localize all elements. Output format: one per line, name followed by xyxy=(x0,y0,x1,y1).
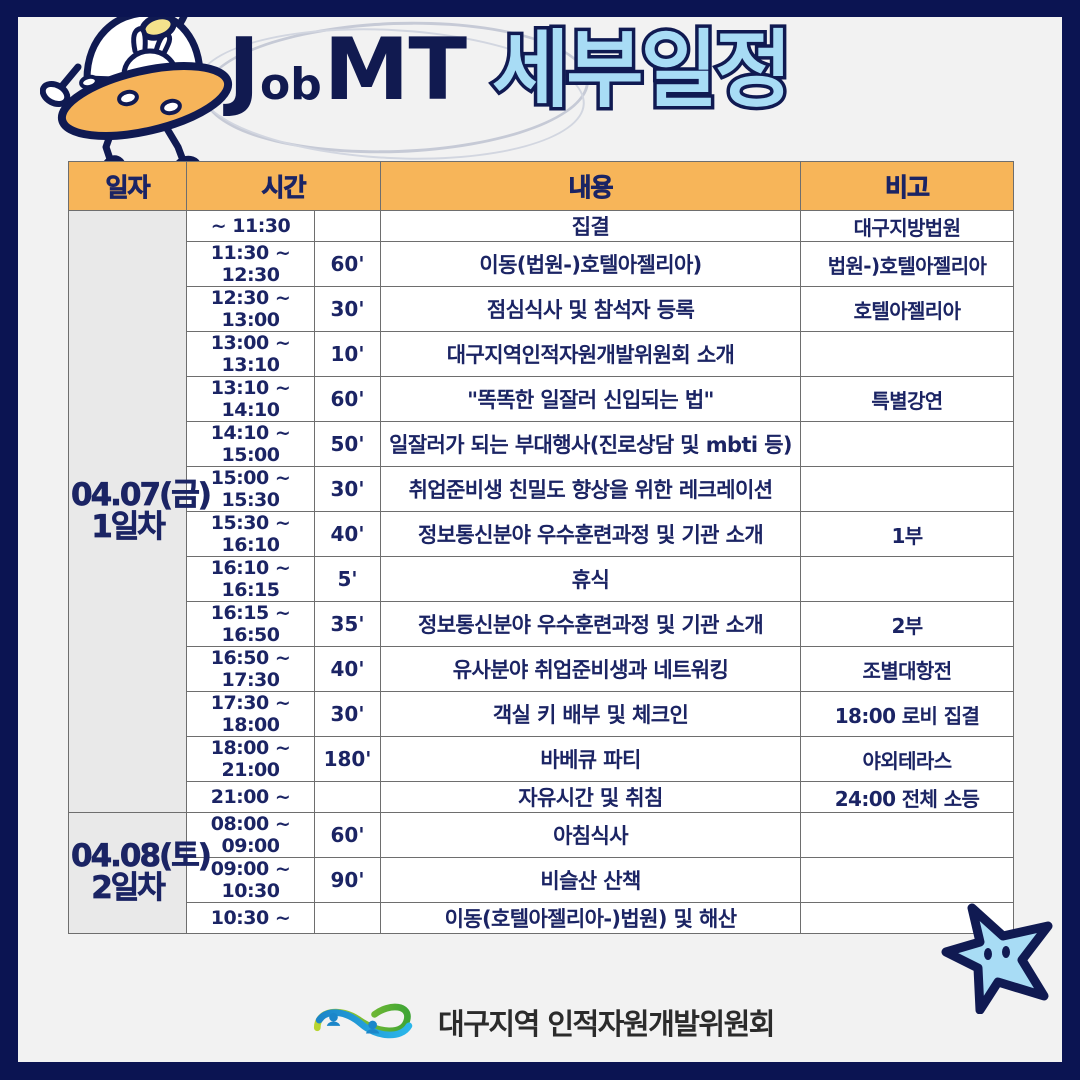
cell-note xyxy=(801,557,1014,602)
cell-note: 18:00 로비 집결 xyxy=(801,692,1014,737)
cell-note: 호텔아젤리아 xyxy=(801,287,1014,332)
cell-content: 정보통신분야 우수훈련과정 및 기관 소개 xyxy=(381,512,801,557)
cell-content: 자유시간 및 취침 xyxy=(381,782,801,813)
cell-content: 정보통신분야 우수훈련과정 및 기관 소개 xyxy=(381,602,801,647)
cell-content: 객실 키 배부 및 체크인 xyxy=(381,692,801,737)
table-row: 04.07(금)1일차~ 11:30집결대구지방법원 xyxy=(69,211,1014,242)
cell-content: 이동(호텔아젤리아-)법원) 및 해산 xyxy=(381,903,801,934)
cell-content: 비슬산 산책 xyxy=(381,858,801,903)
cell-time: 16:10 ~ 16:15 xyxy=(187,557,315,602)
cell-duration: 30' xyxy=(315,467,381,512)
cell-note xyxy=(801,903,1014,934)
cell-duration: 10' xyxy=(315,332,381,377)
table-row: 18:00 ~ 21:00180'바베큐 파티야외테라스 xyxy=(69,737,1014,782)
cell-time: 16:50 ~ 17:30 xyxy=(187,647,315,692)
cell-duration xyxy=(315,903,381,934)
cell-time: 15:30 ~ 16:10 xyxy=(187,512,315,557)
title-letter-j: J xyxy=(228,27,258,113)
cell-duration: 40' xyxy=(315,647,381,692)
cell-duration: 40' xyxy=(315,512,381,557)
cell-content: 취업준비생 친밀도 향상을 위한 레크레이션 xyxy=(381,467,801,512)
cell-note xyxy=(801,332,1014,377)
table-row: 04.08(토)2일차08:00 ~ 09:0060'아침식사 xyxy=(69,813,1014,858)
table-row: 21:00 ~자유시간 및 취침24:00 전체 소등 xyxy=(69,782,1014,813)
cell-duration: 30' xyxy=(315,692,381,737)
cell-content: 휴식 xyxy=(381,557,801,602)
cell-time: 11:30 ~ 12:30 xyxy=(187,242,315,287)
cell-note: 2부 xyxy=(801,602,1014,647)
schedule-day-index: 1일차 xyxy=(71,512,184,544)
cell-content: "똑똑한 일잘러 신입되는 법" xyxy=(381,377,801,422)
poster-header: J ob MT 세부일정 xyxy=(18,17,1062,167)
cell-note xyxy=(801,813,1014,858)
cell-time: 16:15 ~ 16:50 xyxy=(187,602,315,647)
footer-organization-name: 대구지역 인적자원개발위원회 xyxy=(438,1001,774,1043)
column-header-content: 내용 xyxy=(381,162,801,211)
poster-canvas: J ob MT 세부일정 xyxy=(18,17,1062,1062)
title-letters-mt: MT xyxy=(324,27,466,113)
cell-duration: 5' xyxy=(315,557,381,602)
table-row: 11:30 ~ 12:3060'이동(법원-)호텔아젤리아)법원-)호텔아젤리아 xyxy=(69,242,1014,287)
cell-note: 법원-)호텔아젤리아 xyxy=(801,242,1014,287)
table-row: 10:30 ~이동(호텔아젤리아-)법원) 및 해산 xyxy=(69,903,1014,934)
cell-content: 아침식사 xyxy=(381,813,801,858)
cell-duration: 30' xyxy=(315,287,381,332)
footer: 대구지역 인적자원개발위원회 xyxy=(18,998,1062,1046)
schedule-day-label: 04.07(금)1일차 xyxy=(69,211,187,813)
cell-time: 12:30 ~ 13:00 xyxy=(187,287,315,332)
cell-note: 특별강연 xyxy=(801,377,1014,422)
cell-duration: 35' xyxy=(315,602,381,647)
table-header-row: 일자 시간 내용 비고 xyxy=(69,162,1014,211)
cell-content: 점심식사 및 참석자 등록 xyxy=(381,287,801,332)
cell-duration xyxy=(315,782,381,813)
schedule-day-index: 2일차 xyxy=(71,873,184,905)
cell-content: 집결 xyxy=(381,211,801,242)
cell-time: 18:00 ~ 21:00 xyxy=(187,737,315,782)
table-row: 16:10 ~ 16:155'휴식 xyxy=(69,557,1014,602)
cell-duration: 90' xyxy=(315,858,381,903)
cell-note xyxy=(801,467,1014,512)
cell-duration xyxy=(315,211,381,242)
dghrd-infinity-logo-icon xyxy=(306,1001,424,1043)
cell-content: 대구지역인적자원개발위원회 소개 xyxy=(381,332,801,377)
cell-time: 21:00 ~ xyxy=(187,782,315,813)
column-header-date: 일자 xyxy=(69,162,187,211)
column-header-note: 비고 xyxy=(801,162,1014,211)
schedule-day-date: 04.08(토) xyxy=(71,841,184,873)
cell-time: 10:30 ~ xyxy=(187,903,315,934)
cell-note xyxy=(801,858,1014,903)
cell-note: 24:00 전체 소등 xyxy=(801,782,1014,813)
cell-note: 조별대항전 xyxy=(801,647,1014,692)
cell-duration: 180' xyxy=(315,737,381,782)
table-row: 17:30 ~ 18:0030'객실 키 배부 및 체크인18:00 로비 집결 xyxy=(69,692,1014,737)
cell-note xyxy=(801,422,1014,467)
table-row: 13:00 ~ 13:1010'대구지역인적자원개발위원회 소개 xyxy=(69,332,1014,377)
cell-time: 17:30 ~ 18:00 xyxy=(187,692,315,737)
cell-content: 바베큐 파티 xyxy=(381,737,801,782)
title-letters-ob: ob xyxy=(260,63,322,107)
cell-duration: 50' xyxy=(315,422,381,467)
cell-duration: 60' xyxy=(315,377,381,422)
cell-content: 이동(법원-)호텔아젤리아) xyxy=(381,242,801,287)
table-row: 13:10 ~ 14:1060'"똑똑한 일잘러 신입되는 법"특별강연 xyxy=(69,377,1014,422)
table-row: 14:10 ~ 15:0050'일잘러가 되는 부대행사(진로상담 및 mbti… xyxy=(69,422,1014,467)
table-row: 12:30 ~ 13:0030'점심식사 및 참석자 등록호텔아젤리아 xyxy=(69,287,1014,332)
table-row: 16:15 ~ 16:5035'정보통신분야 우수훈련과정 및 기관 소개2부 xyxy=(69,602,1014,647)
schedule-table: 일자 시간 내용 비고 04.07(금)1일차~ 11:30집결대구지방법원11… xyxy=(68,161,1014,934)
table-row: 15:00 ~ 15:3030'취업준비생 친밀도 향상을 위한 레크레이션 xyxy=(69,467,1014,512)
column-header-time: 시간 xyxy=(187,162,381,211)
cell-time: 13:10 ~ 14:10 xyxy=(187,377,315,422)
table-row: 09:00 ~ 10:3090'비슬산 산책 xyxy=(69,858,1014,903)
poster-root: J ob MT 세부일정 xyxy=(0,0,1080,1080)
cell-note: 야외테라스 xyxy=(801,737,1014,782)
title-korean: 세부일정 xyxy=(492,28,789,112)
cell-note: 1부 xyxy=(801,512,1014,557)
page-title: J ob MT 세부일정 xyxy=(228,27,789,113)
cell-duration: 60' xyxy=(315,813,381,858)
cell-time: 14:10 ~ 15:00 xyxy=(187,422,315,467)
schedule-day-label: 04.08(토)2일차 xyxy=(69,813,187,934)
cell-duration: 60' xyxy=(315,242,381,287)
cell-note: 대구지방법원 xyxy=(801,211,1014,242)
schedule-day-date: 04.07(금) xyxy=(71,480,184,512)
table-row: 15:30 ~ 16:1040'정보통신분야 우수훈련과정 및 기관 소개1부 xyxy=(69,512,1014,557)
cell-time: ~ 11:30 xyxy=(187,211,315,242)
cell-content: 일잘러가 되는 부대행사(진로상담 및 mbti 등) xyxy=(381,422,801,467)
cell-time: 13:00 ~ 13:10 xyxy=(187,332,315,377)
table-row: 16:50 ~ 17:3040'유사분야 취업준비생과 네트워킹조별대항전 xyxy=(69,647,1014,692)
cell-content: 유사분야 취업준비생과 네트워킹 xyxy=(381,647,801,692)
